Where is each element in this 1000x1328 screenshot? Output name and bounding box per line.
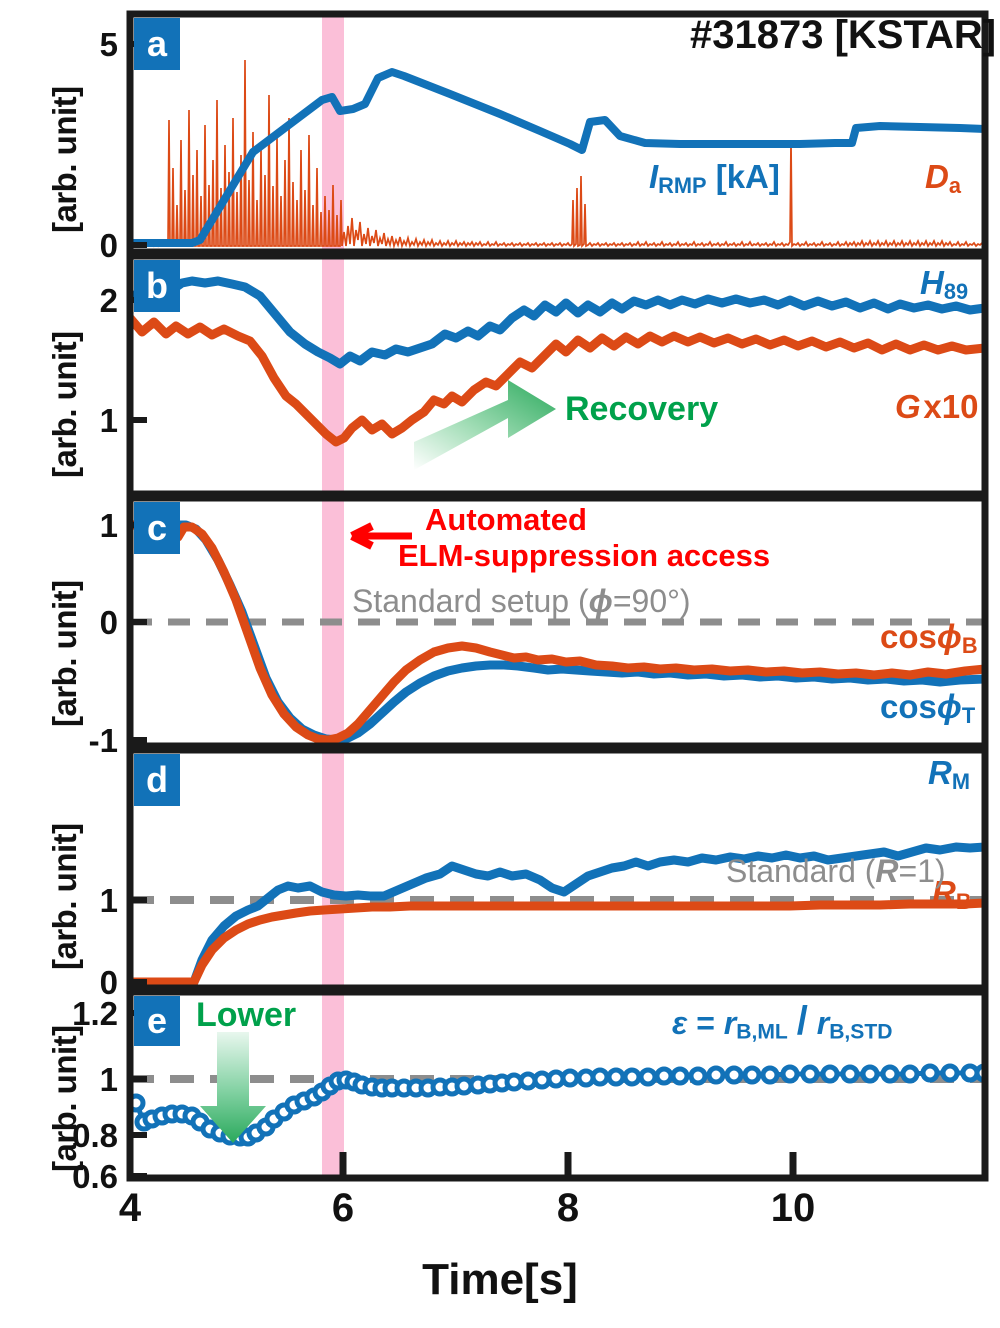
standard-setup-label: Standard setup (ϕ=90°) xyxy=(352,585,691,619)
g-label: G x10 xyxy=(895,390,979,425)
irmp-trace xyxy=(130,72,985,243)
lower-label: Lower xyxy=(196,998,296,1034)
ytick-a-5: 5 xyxy=(40,26,118,64)
dalpha-label: Da xyxy=(925,160,961,198)
automated-access-line2: ELM-suppression access xyxy=(398,540,770,573)
panel-badge-d: d xyxy=(134,754,180,806)
cosphit-label: cosϕT xyxy=(880,690,975,728)
rb-trace xyxy=(130,903,985,982)
panel-badge-e: e xyxy=(134,996,180,1046)
irmp-label: IRMP [kA] xyxy=(649,160,780,198)
xtick-10: 10 xyxy=(753,1186,833,1231)
ytick-b-1: 1 xyxy=(40,402,118,440)
recovery-arrow-icon xyxy=(414,380,556,470)
ytick-c-1: 1 xyxy=(40,507,118,545)
ytick-d-1: 1 xyxy=(40,882,118,920)
ytick-c-0: 0 xyxy=(40,604,118,642)
xaxis-ticks xyxy=(343,1152,793,1177)
figure-root: [arb. unit] [arb. unit] [arb. unit] [arb… xyxy=(0,0,1000,1328)
xtick-6: 6 xyxy=(313,1186,373,1231)
panel-badge-c: c xyxy=(134,502,180,554)
shot-title: #31873 [KSTAR] xyxy=(690,14,996,56)
panel-a-traces xyxy=(130,60,985,246)
ytick-a-0: 0 xyxy=(40,227,118,265)
ytick-c-neg1: -1 xyxy=(20,722,118,760)
xaxis-title: Time[s] xyxy=(0,1255,1000,1305)
panel-b-traces xyxy=(130,281,985,442)
xtick-4: 4 xyxy=(100,1186,160,1231)
xtick-8: 8 xyxy=(538,1186,598,1231)
standard-r-label: Standard (R=1) xyxy=(726,855,946,889)
ytick-e-1p2: 1.2 xyxy=(8,995,118,1033)
recovery-label: Recovery xyxy=(565,392,718,428)
h89-label: H89 xyxy=(920,266,968,304)
panel-badge-a: a xyxy=(134,18,180,70)
panel-badge-b: b xyxy=(134,260,180,312)
ytick-b-2: 2 xyxy=(40,282,118,320)
multi-panel-timeseries-plot xyxy=(0,0,1000,1328)
g-x10-trace xyxy=(130,318,985,442)
epsilon-label: ε = rB,ML / rB,STD xyxy=(672,1000,893,1044)
panel-e-traces xyxy=(129,1066,991,1144)
automated-access-line1: Automated xyxy=(425,504,587,537)
rm-label: RM xyxy=(928,756,970,794)
ytick-e-0p8: 0.8 xyxy=(8,1117,118,1155)
ytick-e-1: 1 xyxy=(40,1061,118,1099)
cosphib-label: cosϕB xyxy=(880,620,978,658)
